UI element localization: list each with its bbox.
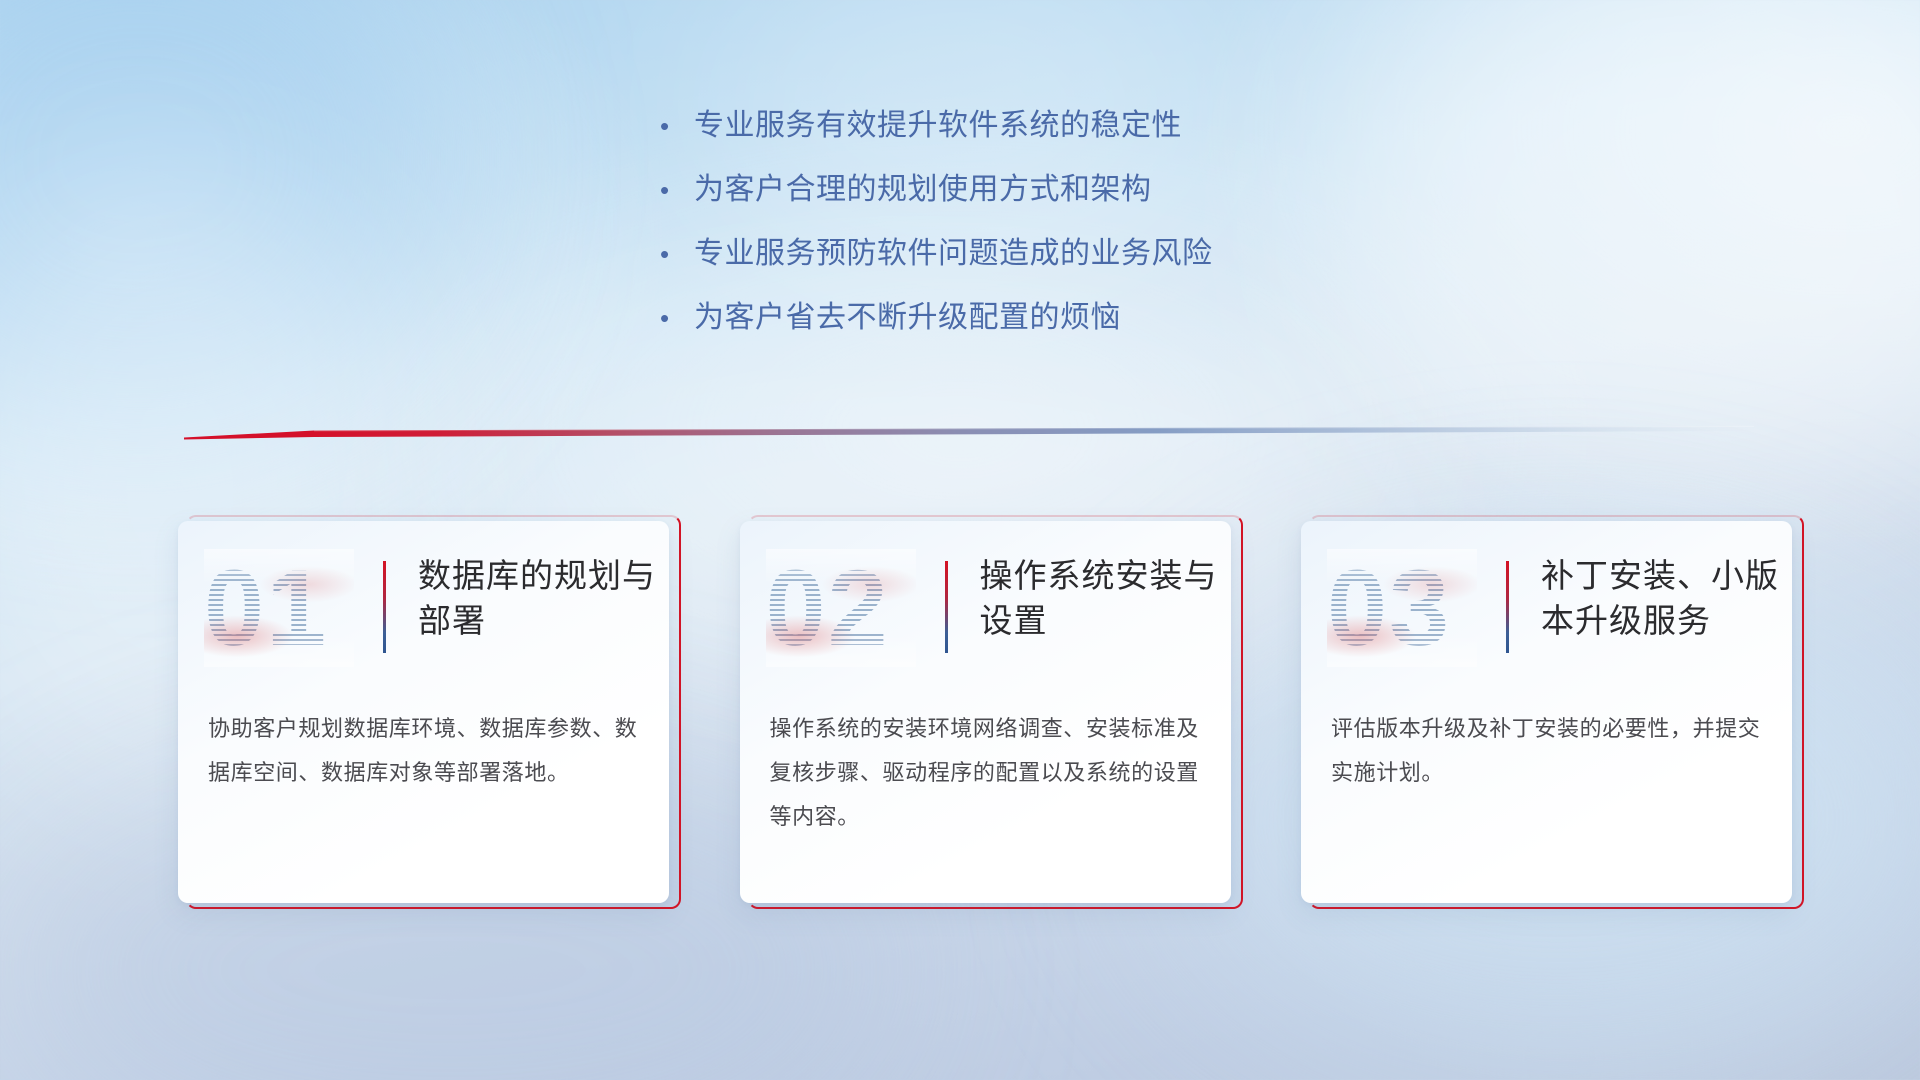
card-number-text: 02 — [766, 549, 916, 667]
card-number-badge: 03 — [1327, 549, 1477, 667]
card-surface: 01 数据库的规划与部署 协助客户规划数据库环境、数据库参数、数据库空间、数据库… — [178, 521, 669, 903]
card-header: 01 数据库的规划与部署 — [178, 521, 669, 707]
card-description: 评估版本升级及补丁安装的必要性，并提交实施计划。 — [1331, 707, 1763, 795]
card-header: 03 补丁安装、小版本升级服务 — [1301, 521, 1792, 707]
bullet-text: 专业服务预防软件问题造成的业务风险 — [694, 234, 1213, 274]
section-divider — [184, 424, 1754, 446]
card-number-badge: 02 — [766, 549, 916, 667]
service-cards-row: 01 数据库的规划与部署 协助客户规划数据库环境、数据库参数、数据库空间、数据库… — [178, 515, 1798, 915]
bullet-text: 专业服务有效提升软件系统的稳定性 — [694, 106, 1182, 146]
bullet-item: • 专业服务预防软件问题造成的业务风险 — [660, 234, 1440, 298]
service-card[interactable]: 02 操作系统安装与设置 操作系统的安装环境网络调查、安装标准及复核步骤、驱动程… — [740, 515, 1237, 903]
card-title: 补丁安装、小版本升级服务 — [1541, 553, 1781, 643]
card-title: 数据库的规划与部署 — [418, 553, 658, 643]
card-number-text: 03 — [1327, 549, 1477, 667]
bullet-item: • 专业服务有效提升软件系统的稳定性 — [660, 106, 1440, 170]
card-number-text: 01 — [204, 549, 354, 667]
background-glow-top-left — [0, 0, 450, 440]
bullet-item: • 为客户省去不断升级配置的烦恼 — [660, 298, 1440, 362]
bullet-item: • 为客户合理的规划使用方式和架构 — [660, 170, 1440, 234]
bullet-text: 为客户省去不断升级配置的烦恼 — [694, 298, 1121, 338]
card-title-rule — [1506, 561, 1509, 653]
card-header: 02 操作系统安装与设置 — [740, 521, 1231, 707]
bullet-marker-icon: • — [660, 106, 694, 146]
card-number-badge: 01 — [204, 549, 354, 667]
card-description: 协助客户规划数据库环境、数据库参数、数据库空间、数据库对象等部署落地。 — [208, 707, 640, 795]
card-surface: 03 补丁安装、小版本升级服务 评估版本升级及补丁安装的必要性，并提交实施计划。 — [1301, 521, 1792, 903]
service-card[interactable]: 01 数据库的规划与部署 协助客户规划数据库环境、数据库参数、数据库空间、数据库… — [178, 515, 675, 903]
card-description: 操作系统的安装环境网络调查、安装标准及复核步骤、驱动程序的配置以及系统的设置等内… — [770, 707, 1202, 839]
card-title-rule — [945, 561, 948, 653]
bullet-text: 为客户合理的规划使用方式和架构 — [694, 170, 1152, 210]
divider-wedge-icon — [184, 424, 1754, 446]
bullet-marker-icon: • — [660, 298, 694, 338]
bullet-marker-icon: • — [660, 170, 694, 210]
card-title-rule — [383, 561, 386, 653]
bullet-marker-icon: • — [660, 234, 694, 274]
service-card[interactable]: 03 补丁安装、小版本升级服务 评估版本升级及补丁安装的必要性，并提交实施计划。 — [1301, 515, 1798, 903]
card-title: 操作系统安装与设置 — [980, 553, 1220, 643]
benefits-bullet-list: • 专业服务有效提升软件系统的稳定性 • 为客户合理的规划使用方式和架构 • 专… — [660, 106, 1440, 362]
card-surface: 02 操作系统安装与设置 操作系统的安装环境网络调查、安装标准及复核步骤、驱动程… — [740, 521, 1231, 903]
